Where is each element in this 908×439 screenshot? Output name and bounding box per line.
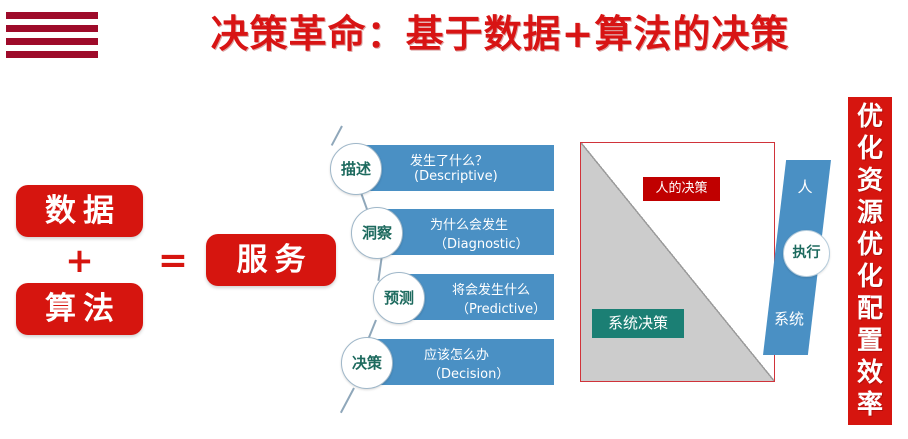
stage-connector bbox=[340, 388, 355, 414]
service-box: 服务 bbox=[206, 234, 336, 286]
band-label-system: 系统 bbox=[755, 308, 823, 329]
equals-operator: = bbox=[150, 240, 196, 282]
stage-cn-text: 应该怎么办 bbox=[424, 344, 489, 363]
human-decision-label: 人的决策 bbox=[643, 177, 720, 201]
stage-connector bbox=[331, 126, 343, 146]
stage-circle-decision[interactable]: 决策 bbox=[341, 337, 393, 389]
stripe-bar bbox=[6, 12, 98, 19]
plus-operator: + bbox=[16, 240, 143, 282]
algorithm-box: 算法 bbox=[16, 283, 143, 335]
execution-circle[interactable]: 执行 bbox=[783, 230, 830, 277]
stripe-bar bbox=[6, 25, 98, 32]
stage-en-text: （Diagnostic） bbox=[434, 233, 529, 252]
stage-circle-insight[interactable]: 洞察 bbox=[351, 207, 403, 259]
stripe-bar bbox=[6, 38, 98, 45]
stage-circle-describe[interactable]: 描述 bbox=[330, 143, 382, 195]
right-vertical-banner: 优化资源优化配置效率 bbox=[848, 97, 892, 425]
page-title: 决策革命：基于数据+算法的决策 bbox=[150, 6, 850, 62]
system-decision-label: 系统决策 bbox=[592, 309, 684, 338]
stage-en-text: (Descriptive) bbox=[414, 169, 498, 184]
band-label-human: 人 bbox=[771, 176, 839, 197]
stage-cn-text: 为什么会发生 bbox=[430, 214, 508, 233]
stage-en-text: （Decision） bbox=[428, 363, 509, 382]
stage-en-text: （Predictive） bbox=[456, 298, 546, 317]
stage-cn-text: 发生了什么？ bbox=[410, 150, 488, 169]
slide-canvas: 决策革命：基于数据+算法的决策 数据 + 算法 = 服务 发生了什么？ (Des… bbox=[0, 0, 908, 439]
stage-cn-text: 将会发生什么 bbox=[452, 279, 530, 298]
stripe-bar bbox=[6, 51, 98, 58]
data-box: 数据 bbox=[16, 185, 143, 237]
stripes-icon bbox=[6, 10, 98, 58]
stage-circle-predict[interactable]: 预测 bbox=[373, 272, 425, 324]
